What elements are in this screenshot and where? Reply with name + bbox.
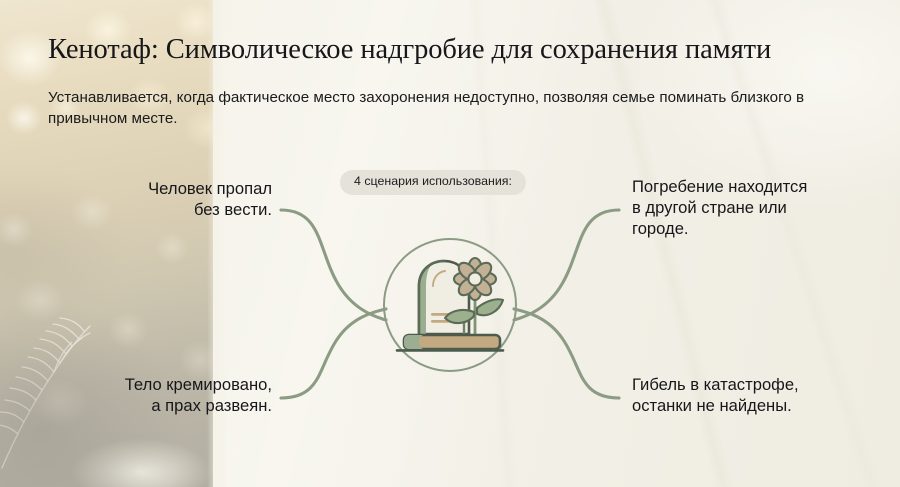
- slide-canvas: Кенотаф: Символическое надгробие для сох…: [0, 0, 900, 487]
- node-label-bottom-left: Тело кремировано,а прах развеян.: [12, 374, 272, 416]
- gravestone-with-flower-icon: [383, 238, 517, 372]
- page-title: Кенотаф: Символическое надгробие для сох…: [48, 34, 868, 66]
- page-subtitle: Устанавливается, когда фактическое место…: [48, 88, 848, 129]
- node-label-bottom-right: Гибель в катастрофе,останки не найдены.: [632, 374, 884, 416]
- center-badge: 4 сценария использования:: [340, 170, 526, 195]
- node-label-top-right: Погребение находитсяв другой стране илиг…: [632, 176, 884, 240]
- node-label-top-left: Человек пропалбез вести.: [32, 178, 272, 220]
